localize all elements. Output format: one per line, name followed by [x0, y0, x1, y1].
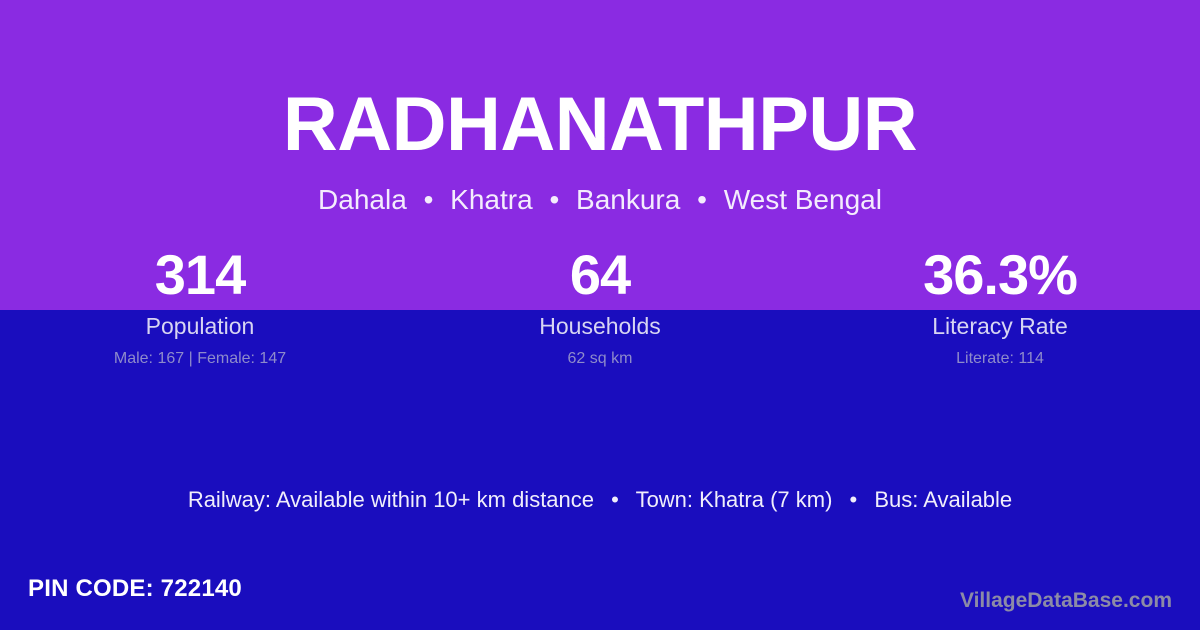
stat-households: 64 Households 62 sq km	[400, 243, 800, 369]
stat-value-households: 64	[400, 243, 800, 307]
site-watermark: VillageDataBase.com	[960, 588, 1172, 614]
stat-sub-population: Male: 167 | Female: 147	[0, 349, 400, 369]
breadcrumb-block: Khatra	[450, 184, 533, 215]
breadcrumb-district: Bankura	[576, 184, 680, 215]
stat-sub-households: 62 sq km	[400, 349, 800, 369]
stats-row: 314 Population Male: 167 | Female: 147 6…	[0, 243, 1200, 369]
stat-value-literacy-rate: 36.3%	[800, 243, 1200, 307]
breadcrumb-state: West Bengal	[724, 184, 882, 215]
stat-label-population: Population	[0, 312, 400, 340]
breadcrumb: Dahala • Khatra • Bankura • West Bengal	[0, 183, 1200, 217]
infrastructure-line: Railway: Available within 10+ km distanc…	[0, 486, 1200, 514]
stat-literacy-rate: 36.3% Literacy Rate Literate: 114	[800, 243, 1200, 369]
breadcrumb-panchayat: Dahala	[318, 184, 407, 215]
infrastructure-town: Town: Khatra (7 km)	[636, 487, 833, 512]
breadcrumb-separator-1: •	[415, 184, 443, 215]
stat-value-population: 314	[0, 243, 400, 307]
stat-label-literacy-rate: Literacy Rate	[800, 312, 1200, 340]
stat-label-households: Households	[400, 312, 800, 340]
infrastructure-railway: Railway: Available within 10+ km distanc…	[188, 487, 594, 512]
stat-sub-literacy-rate: Literate: 114	[800, 349, 1200, 369]
stat-population: 314 Population Male: 167 | Female: 147	[0, 243, 400, 369]
pin-code: PIN CODE: 722140	[28, 574, 242, 604]
page-title: RADHANATHPUR	[0, 79, 1200, 171]
infrastructure-bus: Bus: Available	[874, 487, 1012, 512]
breadcrumb-separator-2: •	[540, 184, 568, 215]
infrastructure-separator-1: •	[600, 487, 630, 512]
breadcrumb-separator-3: •	[688, 184, 716, 215]
infrastructure-separator-2: •	[839, 487, 869, 512]
village-info-card: RADHANATHPUR Dahala • Khatra • Bankura •…	[0, 0, 1200, 630]
